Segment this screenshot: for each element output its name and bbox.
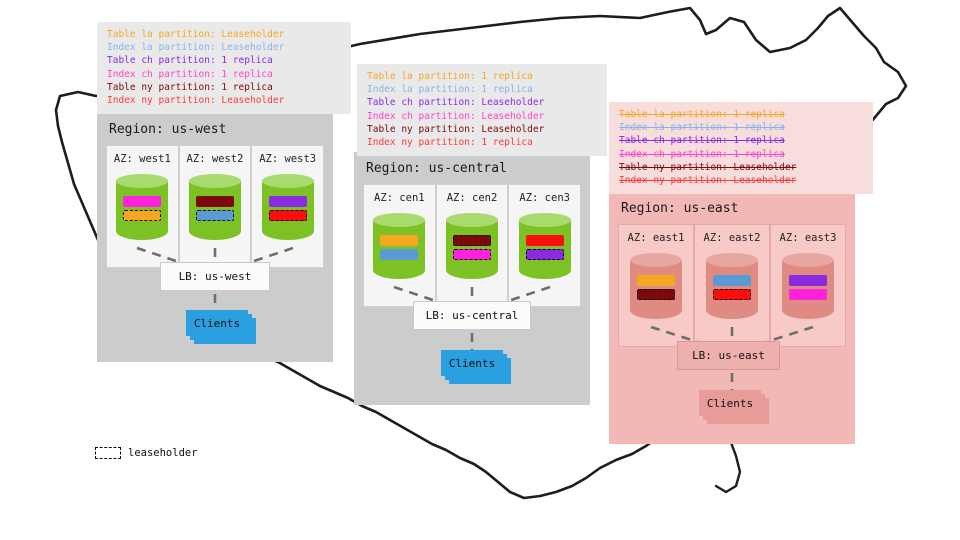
table-ch-partition — [526, 249, 564, 260]
table-ny-partition — [637, 289, 675, 300]
index-ch-partition — [789, 289, 827, 300]
az-label: AZ: west3 — [252, 153, 323, 165]
connectors-us-east — [609, 315, 855, 445]
table-la-partition — [637, 275, 675, 286]
index-ch-partition — [123, 196, 161, 207]
index-la-partition — [196, 210, 234, 221]
az-label: AZ: cen2 — [437, 192, 508, 204]
partition-line: Table ch partition: 1 replica — [619, 134, 865, 147]
connectors-us-central — [354, 275, 590, 405]
index-ny-partition — [713, 289, 751, 300]
cylinder-top — [446, 213, 498, 227]
cylinder-top — [373, 213, 425, 227]
table-ch-partition — [269, 196, 307, 207]
table-ch-partition — [789, 275, 827, 286]
database-cylinder — [446, 213, 498, 283]
clients-us-west[interactable]: Clients — [186, 310, 256, 344]
partition-legend-us-west: Table la partition: Leaseholder Index la… — [97, 22, 351, 114]
cylinder-top — [630, 253, 682, 267]
database-cylinder — [262, 174, 314, 244]
partition-line: Index la partition: Leaseholder — [107, 41, 343, 54]
cylinder-top — [782, 253, 834, 267]
partition-line: Index ny partition: 1 replica — [367, 136, 599, 149]
table-la-partition — [123, 210, 161, 221]
partition-line: Index ch partition: 1 replica — [107, 68, 343, 81]
index-la-partition — [713, 275, 751, 286]
database-cylinder — [630, 253, 682, 323]
cylinder-top — [706, 253, 758, 267]
az-label: AZ: west2 — [180, 153, 251, 165]
az-label: AZ: east1 — [619, 232, 693, 244]
index-ch-partition — [453, 249, 491, 260]
partition-line: Table ny partition: Leaseholder — [619, 161, 865, 174]
partition-line: Table la partition: 1 replica — [367, 70, 599, 83]
database-cylinder — [373, 213, 425, 283]
region-title: Region: us-central — [354, 152, 590, 184]
database-cylinder — [782, 253, 834, 323]
partition-line: Table ny partition: Leaseholder — [367, 123, 599, 136]
partition-line: Index ny partition: Leaseholder — [619, 174, 865, 187]
partition-legend-us-central: Table la partition: 1 replica Index la p… — [357, 64, 607, 156]
clients-us-central[interactable]: Clients — [441, 350, 511, 384]
partition-line: Index la partition: 1 replica — [619, 121, 865, 134]
table-ny-partition — [196, 196, 234, 207]
cylinder-top — [116, 174, 168, 188]
cylinder-top — [189, 174, 241, 188]
partition-line: Table la partition: Leaseholder — [107, 28, 343, 41]
database-cylinder — [116, 174, 168, 244]
table-la-partition — [380, 235, 418, 246]
partition-line: Index ch partition: Leaseholder — [367, 110, 599, 123]
cylinder-top — [262, 174, 314, 188]
partition-line: Table ch partition: 1 replica — [107, 54, 343, 67]
partition-line: Table ny partition: 1 replica — [107, 81, 343, 94]
connectors-us-west — [97, 236, 333, 366]
partition-legend-us-east: Table la partition: 1 replica Index la p… — [609, 102, 873, 194]
region-title: Region: us-west — [97, 113, 333, 145]
partition-line: Table ch partition: Leaseholder — [367, 96, 599, 109]
leaseholder-legend-label: leaseholder — [128, 447, 198, 459]
lb-us-central[interactable]: LB: us-central — [413, 301, 531, 330]
lb-us-west[interactable]: LB: us-west — [160, 262, 270, 291]
partition-line: Index la partition: 1 replica — [367, 83, 599, 96]
lb-us-east[interactable]: LB: us-east — [677, 341, 780, 370]
index-la-partition — [380, 249, 418, 260]
region-title: Region: us-east — [609, 192, 855, 224]
index-ny-partition — [269, 210, 307, 221]
az-label: AZ: cen1 — [364, 192, 435, 204]
az-label: AZ: west1 — [107, 153, 178, 165]
database-cylinder — [189, 174, 241, 244]
clients-label[interactable]: Clients — [699, 390, 761, 416]
clients-label[interactable]: Clients — [441, 350, 503, 376]
partition-line: Index ch partition: 1 replica — [619, 148, 865, 161]
table-ny-partition — [453, 235, 491, 246]
database-cylinder — [706, 253, 758, 323]
az-label: AZ: east2 — [695, 232, 769, 244]
clients-label[interactable]: Clients — [186, 310, 248, 336]
az-label: AZ: east3 — [771, 232, 845, 244]
clients-us-east[interactable]: Clients — [699, 390, 769, 424]
dashed-rect-icon — [95, 447, 121, 459]
partition-line: Index ny partition: Leaseholder — [107, 94, 343, 107]
database-cylinder — [519, 213, 571, 283]
az-label: AZ: cen3 — [509, 192, 580, 204]
cylinder-top — [519, 213, 571, 227]
partition-line: Table la partition: 1 replica — [619, 108, 865, 121]
index-ny-partition — [526, 235, 564, 246]
leaseholder-legend: leaseholder — [95, 447, 198, 459]
